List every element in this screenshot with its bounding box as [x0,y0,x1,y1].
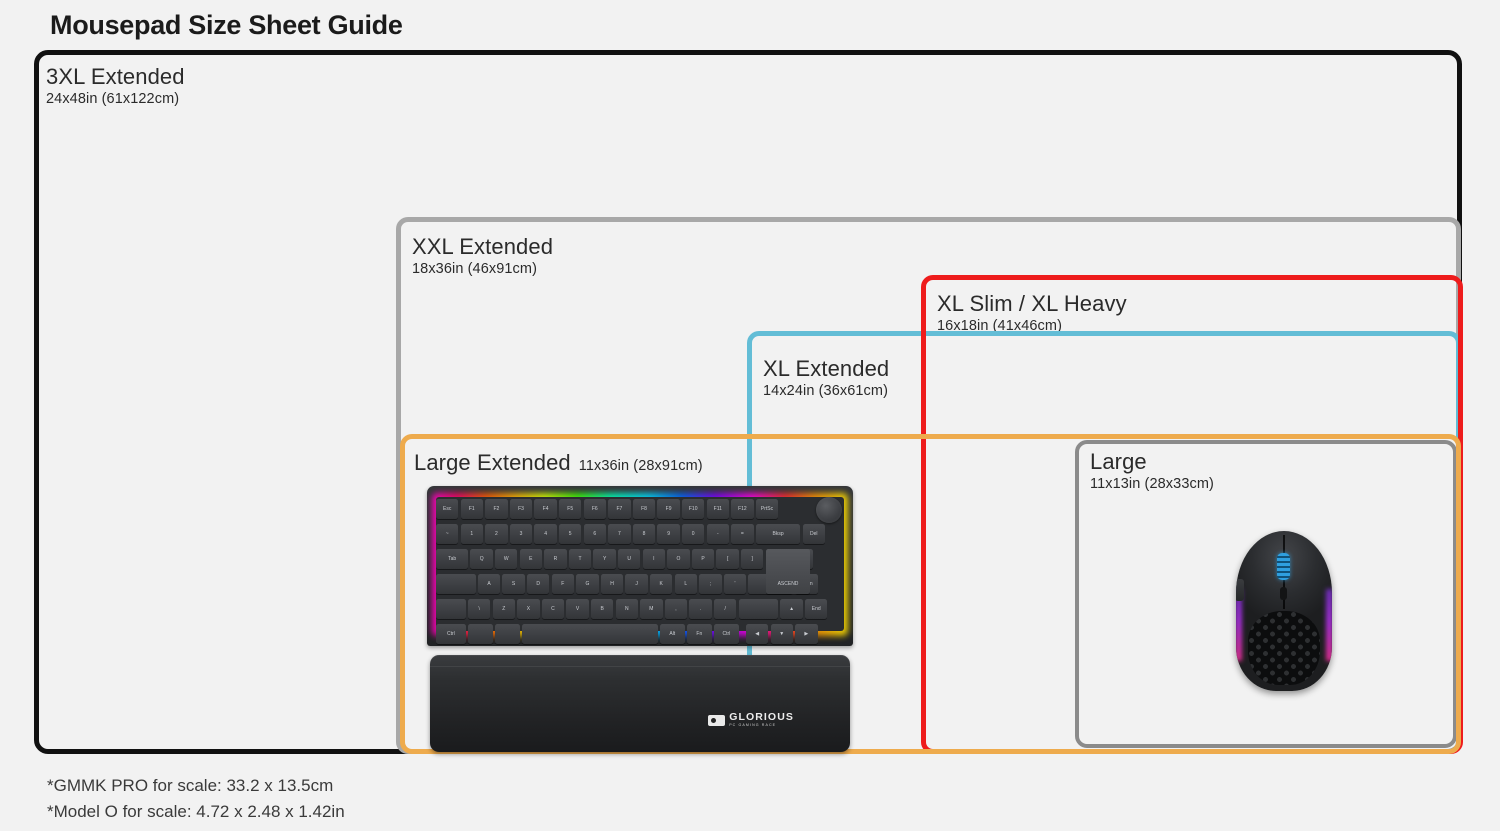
keycap[interactable] [495,624,520,644]
keycap[interactable]: F2 [485,499,507,519]
keycap[interactable]: K [650,574,672,594]
keycap[interactable]: ' [724,574,746,594]
keycap[interactable] [436,574,476,594]
keycap[interactable] [436,599,466,619]
keycap[interactable]: ~ [436,524,458,544]
keycap[interactable]: C [542,599,564,619]
keycap[interactable]: F3 [510,499,532,519]
keycap[interactable]: N [616,599,638,619]
keycap[interactable]: Y [593,549,615,569]
keycap[interactable]: J [625,574,647,594]
keycap[interactable]: 2 [485,524,507,544]
glorious-logo-text: GLORIOUS PC GAMING RACE [729,712,794,728]
keycap[interactable]: G [576,574,598,594]
keycap[interactable]: V [566,599,588,619]
keycap[interactable]: ▲ [780,599,802,619]
keyboard-row-function: EscF1F2F3F4F5F6F7F8F9F10F11F12PrtSc [436,499,844,520]
keycap[interactable]: Z [493,599,515,619]
keycap[interactable]: Alt [660,624,685,644]
keycap[interactable]: 1 [461,524,483,544]
keycap[interactable]: O [667,549,689,569]
keycap[interactable]: End [805,599,827,619]
keycap[interactable] [739,599,779,619]
keyboard-rotary-knob[interactable] [816,497,842,523]
keycap[interactable]: W [495,549,517,569]
keycap[interactable]: H [601,574,623,594]
keycap[interactable]: U [618,549,640,569]
keycap[interactable]: . [689,599,711,619]
mousepad-size-guide: Mousepad Size Sheet Guide 3XL Extended 2… [0,0,1500,831]
keycap[interactable]: Fn [687,624,712,644]
keycap[interactable]: T [569,549,591,569]
keycap[interactable]: B [591,599,613,619]
keycap[interactable]: F12 [731,499,753,519]
keycap[interactable]: F1 [461,499,483,519]
keycap[interactable]: / [714,599,736,619]
keycap[interactable]: Ctrl [436,624,466,644]
keycap[interactable]: Del [803,524,825,544]
keycap[interactable]: F6 [584,499,606,519]
keycap[interactable]: ] [741,549,763,569]
keycap[interactable]: F7 [608,499,630,519]
keyboard-row-number: ~1234567890-=BkspDel [436,524,844,545]
keycap[interactable]: 5 [559,524,581,544]
keycap[interactable]: I [643,549,665,569]
keycap[interactable]: D [527,574,549,594]
keycap[interactable]: ▶ [795,624,817,644]
glorious-brand-name: GLORIOUS [729,712,794,723]
keyboard-chassis: EscF1F2F3F4F5F6F7F8F9F10F11F12PrtSc~1234… [427,486,853,646]
keycap[interactable]: ▼ [771,624,793,644]
keycap[interactable]: F10 [682,499,704,519]
keycap[interactable]: 3 [510,524,532,544]
keycap[interactable]: X [517,599,539,619]
keycap[interactable]: 7 [608,524,630,544]
glorious-logo: GLORIOUS PC GAMING RACE [708,712,794,728]
keycap[interactable]: F8 [633,499,655,519]
keycap[interactable]: ; [699,574,721,594]
keycap[interactable]: 9 [657,524,679,544]
keycap[interactable]: F [552,574,574,594]
keycap[interactable]: = [731,524,753,544]
keycap[interactable]: - [707,524,729,544]
keycap[interactable]: M [640,599,662,619]
keycap-ascend[interactable]: ASCEND [766,549,810,594]
keycap[interactable]: Q [470,549,492,569]
keycap[interactable]: L [675,574,697,594]
footnote-mouse-scale: *Model O for scale: 4.72 x 2.48 x 1.42in [47,799,345,825]
keycap[interactable]: F5 [559,499,581,519]
keycap[interactable]: Ctrl [714,624,739,644]
keyboard-gmmk-pro: EscF1F2F3F4F5F6F7F8F9F10F11F12PrtSc~1234… [427,486,853,752]
keycap[interactable]: P [692,549,714,569]
keycap[interactable]: R [544,549,566,569]
keycap[interactable] [468,624,493,644]
keycap[interactable]: S [502,574,524,594]
keycap[interactable]: F4 [534,499,556,519]
keycap[interactable] [522,624,658,644]
keyboard-key-deck: EscF1F2F3F4F5F6F7F8F9F10F11F12PrtSc~1234… [436,497,844,631]
keycap[interactable]: F11 [707,499,729,519]
keycap[interactable]: 6 [584,524,606,544]
keycap[interactable]: \ [468,599,490,619]
wrist-rest: GLORIOUS PC GAMING RACE [430,655,850,752]
keycap[interactable]: 8 [633,524,655,544]
keyboard-row-space: CtrlAltFnCtrl◀▼▶ [436,624,844,645]
keycap[interactable]: , [665,599,687,619]
keycap[interactable]: [ [716,549,738,569]
glorious-tagline: PC GAMING RACE [729,724,794,728]
keycap[interactable]: Esc [436,499,458,519]
keyboard-row-shift: \ZXCVBNM,./▲End [436,599,844,620]
keycap[interactable]: ◀ [746,624,768,644]
keycap[interactable]: 0 [682,524,704,544]
keycap[interactable]: Bksp [756,524,801,544]
keycap[interactable]: Tab [436,549,468,569]
keycap[interactable]: PrtSc [756,499,778,519]
glorious-logo-mark-icon [708,715,725,726]
footnote-keyboard-scale: *GMMK PRO for scale: 33.2 x 13.5cm [47,773,345,799]
keycap[interactable]: 4 [534,524,556,544]
wrist-rest-seam [430,666,850,667]
keycap[interactable]: A [478,574,500,594]
page-title: Mousepad Size Sheet Guide [50,10,403,41]
keycap[interactable]: E [520,549,542,569]
keycap[interactable]: F9 [657,499,679,519]
footnotes: *GMMK PRO for scale: 33.2 x 13.5cm *Mode… [47,773,345,826]
